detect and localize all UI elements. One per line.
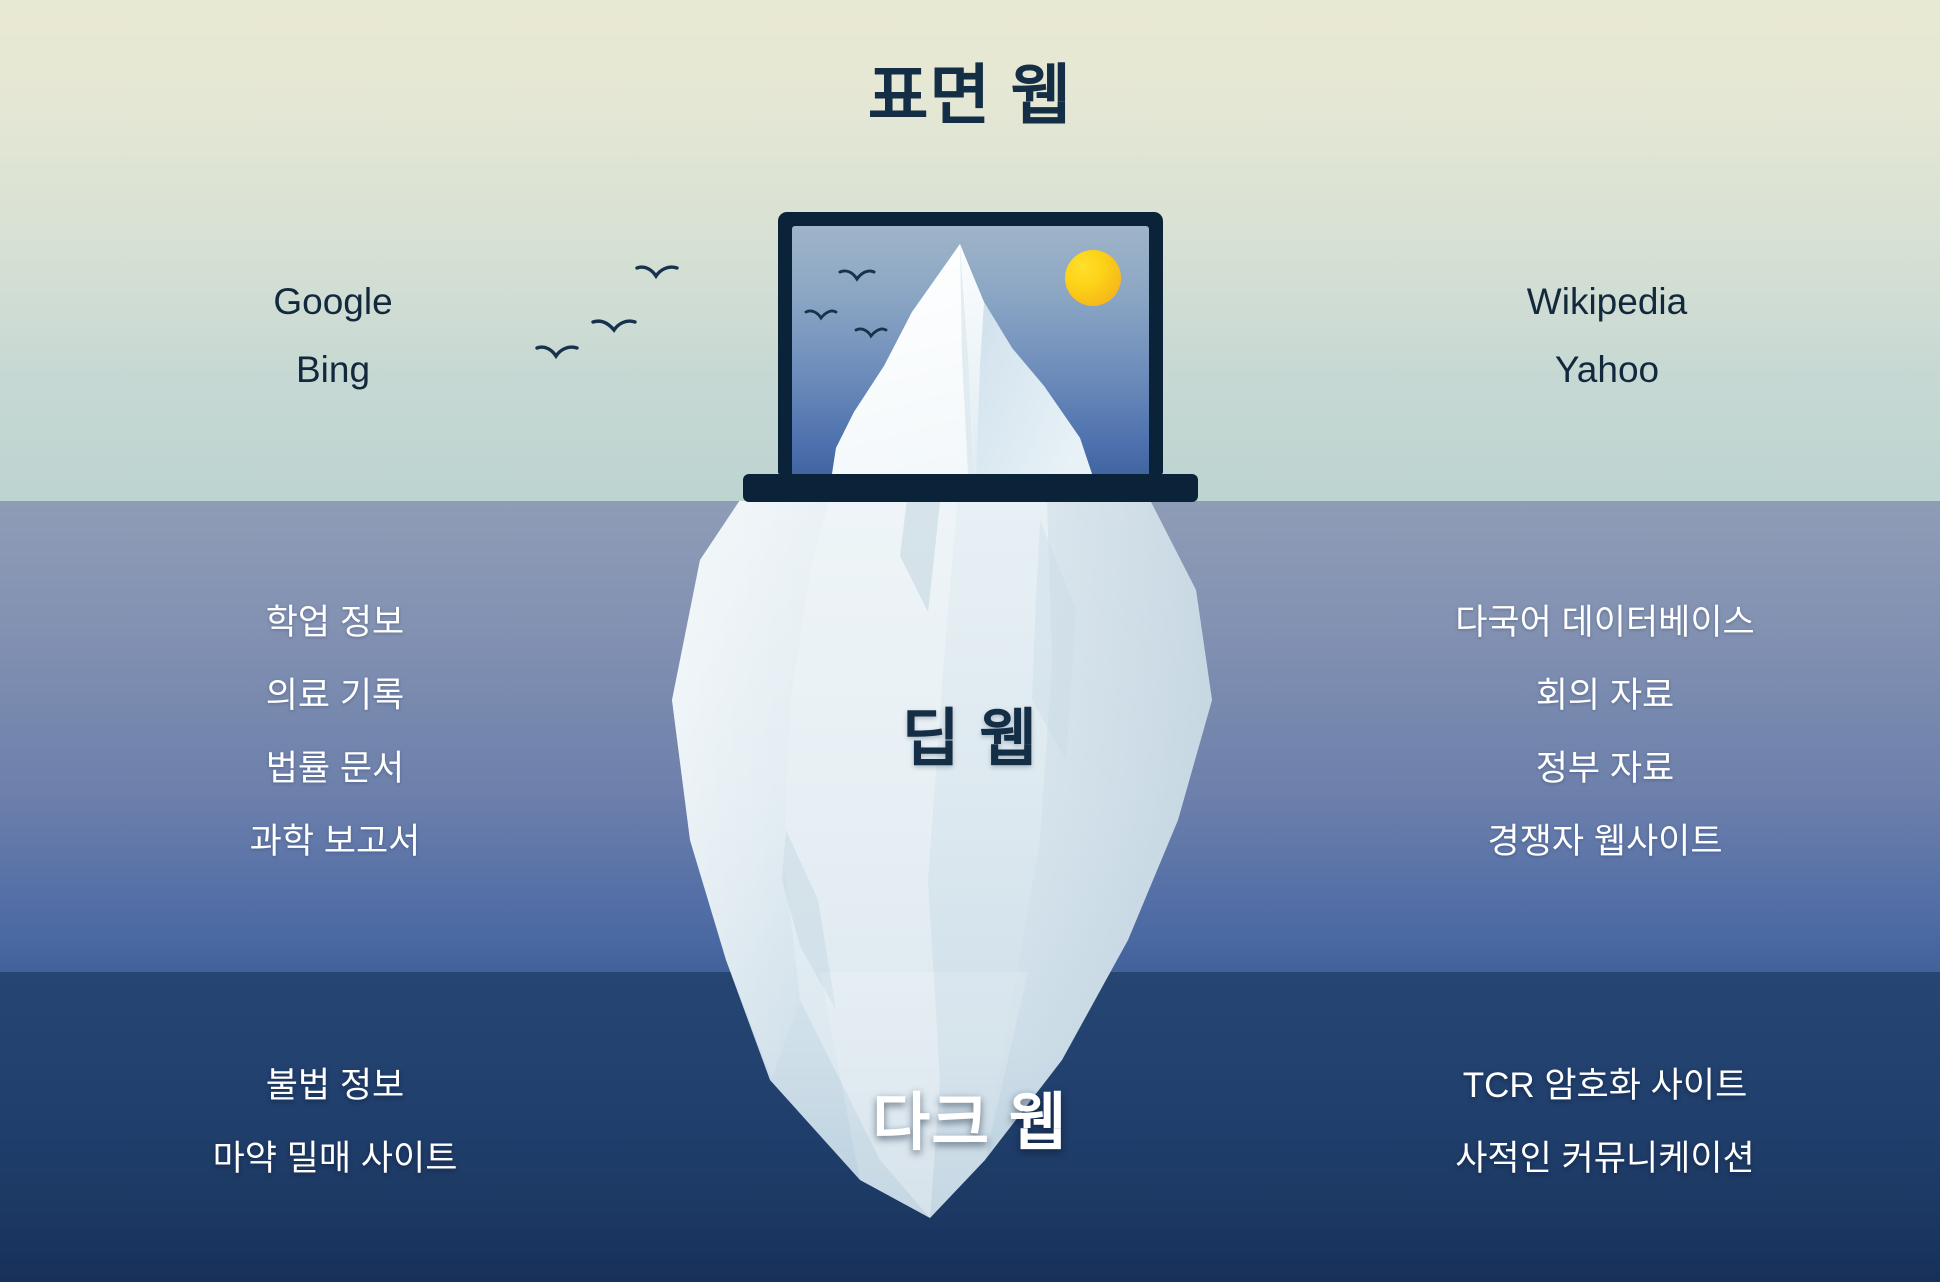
list-item: Yahoo [1442,351,1772,388]
list-item: Wikipedia [1442,283,1772,320]
laptop-illustration [743,212,1198,502]
dark-web-left-list: 불법 정보 마약 밀매 사이트 [120,1068,550,1214]
laptop-screen-frame [778,212,1163,474]
deep-web-right-list: 다국어 데이터베이스 회의 자료 정부 자료 경쟁자 웹사이트 [1390,605,1820,897]
list-item: 불법 정보 [120,1068,550,1103]
laptop-base [743,474,1198,502]
surface-web-right-list: Wikipedia Yahoo [1442,283,1772,419]
dark-web-right-list: TCR 암호화 사이트 사적인 커뮤니케이션 [1380,1068,1830,1214]
list-item: 과학 보고서 [130,824,540,859]
list-item: 다국어 데이터베이스 [1390,605,1820,640]
deep-web-left-list: 학업 정보 의료 기록 법률 문서 과학 보고서 [130,605,540,897]
list-item: 마약 밀매 사이트 [120,1141,550,1176]
list-item: 회의 자료 [1390,678,1820,713]
surface-web-title: 표면 웹 [0,42,1940,138]
surface-web-left-list: Google Bing [178,283,488,419]
list-item: 법률 문서 [130,751,540,786]
list-item: 경쟁자 웹사이트 [1390,824,1820,859]
infographic-canvas: 표면 웹 딥 웹 다크 웹 Google Bing Wikipedia Yaho… [0,0,1940,1282]
list-item: 의료 기록 [130,678,540,713]
list-item: TCR 암호화 사이트 [1380,1068,1830,1103]
list-item: 정부 자료 [1390,751,1820,786]
list-item: Bing [178,351,488,388]
list-item: 학업 정보 [130,605,540,640]
laptop-screen [792,226,1149,474]
list-item: 사적인 커뮤니케이션 [1380,1141,1830,1176]
list-item: Google [178,283,488,320]
iceberg-tip [792,226,1149,474]
